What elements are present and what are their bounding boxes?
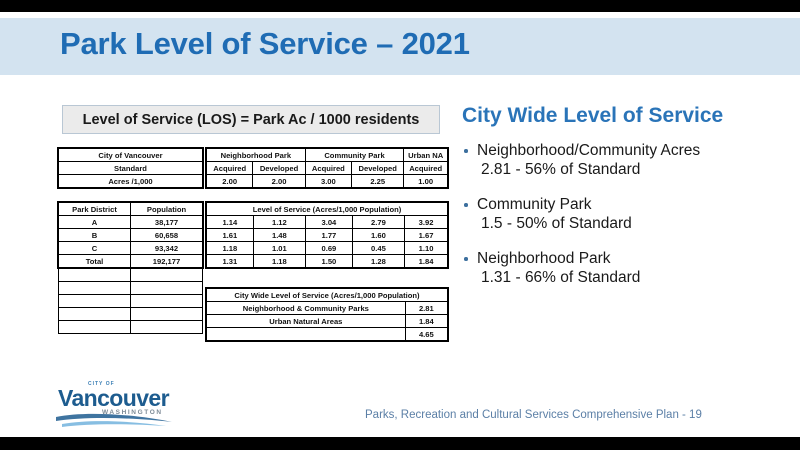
bullet-label: Community Park <box>477 195 792 214</box>
los-cell: 1.67 <box>405 229 448 242</box>
col-urban-acquired: Acquired <box>404 162 448 175</box>
table-header-row: Neighborhood Park Community Park Urban N… <box>207 149 448 162</box>
los-cell: 0.45 <box>352 242 404 255</box>
los-cell: 1.18 <box>207 242 254 255</box>
bullet-dot-icon <box>464 257 468 261</box>
citywide-row-value: 1.84 <box>405 315 447 328</box>
los-definition-box: Level of Service (LOS) = Park Ac / 1000 … <box>62 105 440 134</box>
slide-canvas: Park Level of Service – 2021 Level of Se… <box>0 12 800 437</box>
logo-vancouver-text: Vancouver <box>58 385 169 412</box>
los-total-cell: 1.18 <box>253 255 305 268</box>
summary-heading: City Wide Level of Service <box>462 104 792 128</box>
standard-community-acquired: 3.00 <box>305 175 351 188</box>
citywide-total-value: 4.65 <box>405 328 447 341</box>
district-header-population: Population <box>131 203 203 216</box>
district-cell-population: 38,177 <box>131 216 203 229</box>
citywide-total-label <box>207 328 406 341</box>
blank-row <box>59 308 203 321</box>
table-row: C 93,342 <box>59 242 203 255</box>
table-row: A 38,177 <box>59 216 203 229</box>
los-cell: 1.61 <box>207 229 254 242</box>
los-cell: 0.69 <box>306 242 353 255</box>
table-total-row: 4.65 <box>207 328 448 341</box>
city-of-vancouver-logo: CITY OF Vancouver WASHINGTON <box>52 380 178 428</box>
standard-table-row-label-1: Standard <box>59 162 203 175</box>
table-header-row: Level of Service (Acres/1,000 Population… <box>207 203 448 216</box>
bullet-detail: 1.31 - 66% of Standard <box>477 268 792 288</box>
table-subheader-row: Acquired Developed Acquired Developed Ac… <box>207 162 448 175</box>
col-neighborhood-developed: Developed <box>253 162 305 175</box>
los-total-cell: 1.50 <box>306 255 353 268</box>
table-row: Urban Natural Areas 1.84 <box>207 315 448 328</box>
table-row: Standard <box>59 162 203 175</box>
summary-bullet: Neighborhood Park 1.31 - 66% of Standard <box>462 249 792 288</box>
standard-neighborhood-acquired: 2.00 <box>207 175 253 188</box>
bullet-dot-icon <box>464 149 468 153</box>
table-row: B 60,658 <box>59 229 203 242</box>
citywide-los-table: City Wide Level of Service (Acres/1,000 … <box>206 288 448 341</box>
blank-row <box>59 269 203 282</box>
standard-table: City of Vancouver Standard Acres /1,000 <box>58 148 203 188</box>
los-definition-text: Level of Service (LOS) = Park Ac / 1000 … <box>83 112 420 128</box>
bullet-detail: 2.81 - 56% of Standard <box>477 160 792 180</box>
park-group-urban-na: Urban NA <box>404 149 448 162</box>
spreadsheet-block: City of Vancouver Standard Acres /1,000 … <box>58 148 448 360</box>
los-cell: 3.04 <box>306 216 353 229</box>
los-cell: 1.77 <box>306 229 353 242</box>
citywide-table-title: City Wide Level of Service (Acres/1,000 … <box>207 289 448 302</box>
los-table-title: Level of Service (Acres/1,000 Population… <box>207 203 448 216</box>
table-row: City of Vancouver <box>59 149 203 162</box>
citywide-row-value: 2.81 <box>405 302 447 315</box>
table-total-row: 1.31 1.18 1.50 1.28 1.84 <box>207 255 448 268</box>
los-cell: 1.12 <box>253 216 305 229</box>
los-total-cell: 1.28 <box>352 255 404 268</box>
standard-community-developed: 2.25 <box>352 175 404 188</box>
park-group-community: Community Park <box>305 149 404 162</box>
table-row: Neighborhood & Community Parks 2.81 <box>207 302 448 315</box>
table-row: 1.18 1.01 0.69 0.45 1.10 <box>207 242 448 255</box>
standard-urban-acquired: 1.00 <box>404 175 448 188</box>
citywide-row-label: Urban Natural Areas <box>207 315 406 328</box>
col-neighborhood-acquired: Acquired <box>207 162 253 175</box>
park-types-table: Neighborhood Park Community Park Urban N… <box>206 148 448 188</box>
summary-bullet: Neighborhood/Community Acres 2.81 - 56% … <box>462 141 792 180</box>
blank-row <box>59 321 203 334</box>
standard-values-row: 2.00 2.00 3.00 2.25 1.00 <box>207 175 448 188</box>
table-row: 1.14 1.12 3.04 2.79 3.92 <box>207 216 448 229</box>
footer-text: Parks, Recreation and Cultural Services … <box>365 409 702 421</box>
bullet-label: Neighborhood/Community Acres <box>477 141 792 160</box>
district-cell-name: C <box>59 242 131 255</box>
bullet-label: Neighborhood Park <box>477 249 792 268</box>
table-row: 1.61 1.48 1.77 1.60 1.67 <box>207 229 448 242</box>
bullet-detail: 1.5 - 50% of Standard <box>477 214 792 234</box>
summary-column: City Wide Level of Service Neighborhood/… <box>462 104 792 303</box>
los-cell: 2.79 <box>352 216 404 229</box>
citywide-row-label: Neighborhood & Community Parks <box>207 302 406 315</box>
standard-neighborhood-developed: 2.00 <box>253 175 305 188</box>
district-total-population: 192,177 <box>131 255 203 268</box>
bullet-dot-icon <box>464 203 468 207</box>
table-header-row: City Wide Level of Service (Acres/1,000 … <box>207 289 448 302</box>
los-cell: 1.60 <box>352 229 404 242</box>
standard-table-row-label-2: Acres /1,000 <box>59 175 203 188</box>
blank-grid <box>58 268 203 334</box>
district-header-district: Park District <box>59 203 131 216</box>
district-cell-population: 60,658 <box>131 229 203 242</box>
district-cell-name: B <box>59 229 131 242</box>
los-cell: 1.10 <box>405 242 448 255</box>
district-cell-population: 93,342 <box>131 242 203 255</box>
los-cell: 1.01 <box>253 242 305 255</box>
district-cell-name: A <box>59 216 131 229</box>
standard-table-title: City of Vancouver <box>59 149 203 162</box>
summary-bullet: Community Park 1.5 - 50% of Standard <box>462 195 792 234</box>
logo-wave-icon <box>54 413 176 429</box>
park-group-neighborhood: Neighborhood Park <box>207 149 306 162</box>
table-total-row: Total 192,177 <box>59 255 203 268</box>
district-table: Park District Population A 38,177 B 60,6… <box>58 202 203 268</box>
table-row: Acres /1,000 <box>59 175 203 188</box>
col-community-developed: Developed <box>352 162 404 175</box>
district-total-label: Total <box>59 255 131 268</box>
los-total-cell: 1.31 <box>207 255 254 268</box>
table-header-row: Park District Population <box>59 203 203 216</box>
col-community-acquired: Acquired <box>305 162 351 175</box>
blank-row <box>59 282 203 295</box>
level-of-service-table: Level of Service (Acres/1,000 Population… <box>206 202 448 268</box>
los-total-cell: 1.84 <box>405 255 448 268</box>
los-cell: 1.48 <box>253 229 305 242</box>
blank-row <box>59 295 203 308</box>
page-title: Park Level of Service – 2021 <box>60 26 470 62</box>
los-cell: 3.92 <box>405 216 448 229</box>
los-cell: 1.14 <box>207 216 254 229</box>
